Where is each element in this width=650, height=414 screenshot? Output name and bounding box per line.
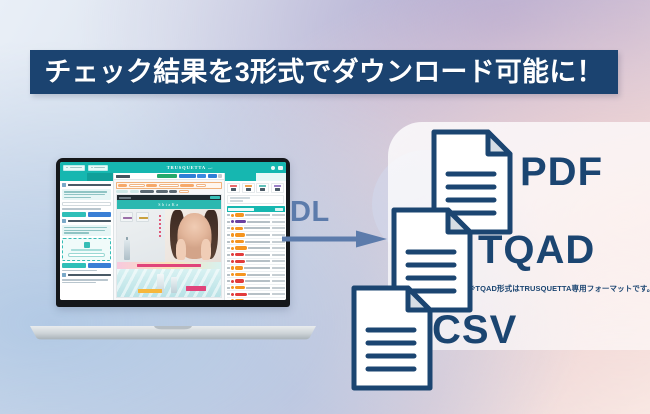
file-dropzone[interactable]: [62, 238, 111, 261]
promo-tag-pink: [186, 286, 206, 291]
tab-right-primary[interactable]: [225, 173, 256, 181]
left-sidebar: [60, 173, 114, 300]
section-title: [68, 184, 112, 186]
account-icon[interactable]: [278, 166, 283, 170]
preview-brand-band: ShiaKa: [117, 200, 221, 209]
toolbar-more-icon[interactable]: [218, 174, 222, 179]
upload-check-button[interactable]: [88, 263, 112, 268]
vertical-catchcopy: [159, 215, 161, 237]
dropzone-label: [71, 249, 101, 251]
result-list[interactable]: [225, 212, 286, 300]
keyword-check-heading: [62, 273, 111, 277]
table-row[interactable]: [227, 265, 285, 272]
table-row[interactable]: [227, 291, 285, 298]
tab-left-secondary[interactable]: [87, 173, 114, 181]
app-logo: TRUSQUETTAver.2: [111, 165, 268, 170]
keyword-input[interactable]: [62, 202, 111, 206]
action-buttons-2: [62, 263, 111, 268]
status-tag-row: [116, 190, 222, 193]
keyword-check-icon: [62, 273, 66, 277]
image-check-icon: [62, 219, 66, 223]
check-section-heading: [62, 183, 111, 187]
stat-total: [271, 183, 284, 193]
menu-label: [94, 167, 105, 169]
format-label-pdf: PDF: [520, 152, 603, 192]
right-sidebar: [224, 173, 286, 300]
secondary-summary: [227, 195, 284, 204]
laptop-mockup: TRUSQUETTAver.2: [28, 158, 318, 340]
preview-site-name: [119, 197, 131, 199]
table-row[interactable]: [227, 245, 285, 252]
laptop-base: [28, 326, 318, 340]
award-badge-1: [120, 212, 133, 222]
menu-label: [70, 167, 82, 169]
topbar-menu-1[interactable]: [63, 165, 85, 171]
model-hand-right: [201, 239, 211, 260]
app-logo-suffix: ver.2: [208, 168, 212, 170]
stat-low-risk: [256, 183, 269, 193]
table-row[interactable]: [227, 212, 285, 219]
product-bottle: [124, 240, 130, 260]
result-list-title: [228, 208, 254, 210]
table-row[interactable]: [227, 226, 285, 233]
app-body: ShiaKa: [60, 173, 286, 300]
upload-icon: [84, 242, 90, 248]
document-icon-csv: [348, 282, 436, 394]
center-toolbar: [114, 173, 224, 180]
check-description: [62, 189, 111, 200]
table-row[interactable]: [227, 272, 285, 279]
action-buttons-1: [62, 212, 111, 217]
promo-tag-yellow: [138, 289, 162, 293]
preview-hero-section: [117, 209, 221, 262]
section-title: [68, 274, 112, 276]
left-scroll-area[interactable]: [60, 181, 113, 300]
run-check-button[interactable]: [88, 212, 112, 217]
format-label-tqad: TQAD: [478, 230, 595, 270]
menu-icon: [66, 167, 68, 169]
preview-secondary-visual: [117, 269, 221, 297]
menu-icon: [91, 167, 93, 169]
image-check-heading: [62, 219, 111, 223]
preview-product-area: [117, 209, 165, 262]
panel-title: [116, 175, 130, 178]
gear-icon[interactable]: [271, 166, 275, 170]
tab-right-secondary[interactable]: [256, 173, 287, 181]
app-logo-text: TRUSQUETTA: [167, 165, 206, 170]
headline-banner: チェック結果を3形式でダウンロード可能に！: [30, 50, 618, 94]
app-topbar: TRUSQUETTAver.2: [60, 162, 286, 173]
document-check-icon: [62, 183, 66, 187]
landing-page-preview[interactable]: ShiaKa: [116, 194, 222, 298]
model-hand-left: [176, 239, 186, 260]
filter-tag-row: [116, 182, 222, 189]
topbar-actions: [271, 166, 283, 170]
preview-cta-button[interactable]: [210, 196, 220, 199]
table-row[interactable]: [227, 239, 285, 246]
stat-high-risk: [227, 183, 240, 193]
section-title: [68, 220, 112, 222]
table-row[interactable]: [227, 259, 285, 266]
toolbar-save-button[interactable]: [197, 174, 206, 179]
right-arrow-icon: [282, 230, 388, 248]
table-row[interactable]: [227, 278, 285, 285]
right-tabs: [225, 173, 286, 181]
table-row[interactable]: [227, 298, 285, 300]
clear-button[interactable]: [62, 263, 86, 268]
dl-label: DL: [290, 198, 330, 227]
tab-left-primary[interactable]: [60, 173, 87, 181]
result-summary: [225, 181, 286, 195]
headline-text: チェック結果を3形式でダウンロード可能に！: [44, 59, 603, 86]
left-tabs: [60, 173, 113, 181]
laptop-screen: TRUSQUETTAver.2: [60, 162, 286, 300]
center-panel: ShiaKa: [114, 173, 224, 300]
trusquetta-app: TRUSQUETTAver.2: [60, 162, 286, 300]
toolbar-primary-button[interactable]: [157, 174, 177, 179]
preview-promo-strip: [117, 262, 221, 269]
toolbar-print-button[interactable]: [208, 174, 217, 179]
preview-brand-text: ShiaKa: [158, 202, 179, 207]
stat-medium-risk: [242, 183, 255, 193]
result-list-action[interactable]: [275, 208, 283, 211]
select-file-button[interactable]: [68, 253, 106, 257]
hint-text: [62, 208, 111, 210]
keyword-description: [62, 279, 111, 283]
reset-button[interactable]: [62, 212, 86, 217]
image-check-description: [62, 225, 111, 236]
topbar-menu-2[interactable]: [88, 165, 109, 171]
note-text: [62, 270, 111, 272]
product-bottle-3: [171, 277, 177, 293]
award-badge-2: [136, 212, 149, 222]
download-flow-indicator: DL: [288, 200, 396, 252]
ice-texture: [117, 269, 221, 297]
table-row[interactable]: [227, 219, 285, 226]
toolbar-secondary-button[interactable]: [179, 174, 196, 179]
preview-model-photo: [165, 209, 221, 262]
laptop-lid: TRUSQUETTAver.2: [56, 158, 290, 307]
format-label-csv: CSV: [432, 310, 517, 350]
table-row[interactable]: [227, 252, 285, 259]
table-row[interactable]: [227, 232, 285, 239]
poster-canvas: チェック結果を3形式でダウンロード可能に！: [0, 0, 650, 414]
table-row[interactable]: [227, 285, 285, 292]
tqad-format-note: ※TQAD形式はTRUSQUETTA専用フォーマットです。: [468, 283, 650, 294]
